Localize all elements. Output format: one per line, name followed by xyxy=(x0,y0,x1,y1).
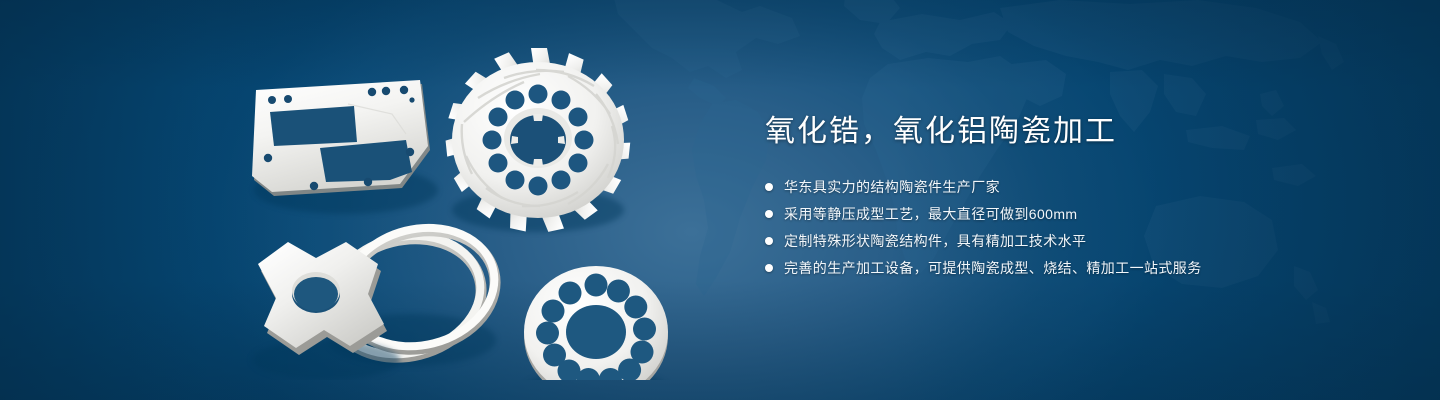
feature-text: 采用等静压成型工艺，最大直径可做到600mm xyxy=(784,203,1077,225)
ceramic-perforated-disc xyxy=(522,266,670,380)
product-photo-group xyxy=(230,40,700,380)
banner-text-block: 氧化锆，氧化铝陶瓷加工 华东具实力的结构陶瓷件生产厂家 采用等静压成型工艺，最大… xyxy=(765,112,1385,284)
page-title: 氧化锆，氧化铝陶瓷加工 xyxy=(765,112,1385,152)
list-item: 采用等静压成型工艺，最大直径可做到600mm xyxy=(765,203,1385,225)
feature-text: 定制特殊形状陶瓷结构件，具有精加工技术水平 xyxy=(784,230,1086,252)
list-item: 完善的生产加工设备，可提供陶瓷成型、烧结、精加工一站式服务 xyxy=(765,257,1385,279)
feature-list: 华东具实力的结构陶瓷件生产厂家 采用等静压成型工艺，最大直径可做到600mm 定… xyxy=(765,176,1385,279)
bullet-dot-icon xyxy=(765,210,773,218)
list-item: 华东具实力的结构陶瓷件生产厂家 xyxy=(765,176,1385,198)
ceramic-cross-plate xyxy=(252,242,400,380)
ceramic-machined-plate xyxy=(252,80,438,214)
bullet-dot-icon xyxy=(765,237,773,245)
hero-banner: 氧化锆，氧化铝陶瓷加工 华东具实力的结构陶瓷件生产厂家 采用等静压成型工艺，最大… xyxy=(0,0,1440,400)
feature-text: 华东具实力的结构陶瓷件生产厂家 xyxy=(784,176,1000,198)
ceramic-vaned-impeller xyxy=(445,48,630,233)
list-item: 定制特殊形状陶瓷结构件，具有精加工技术水平 xyxy=(765,230,1385,252)
bullet-dot-icon xyxy=(765,264,773,272)
feature-text: 完善的生产加工设备，可提供陶瓷成型、烧结、精加工一站式服务 xyxy=(784,257,1202,279)
bullet-dot-icon xyxy=(765,183,773,191)
